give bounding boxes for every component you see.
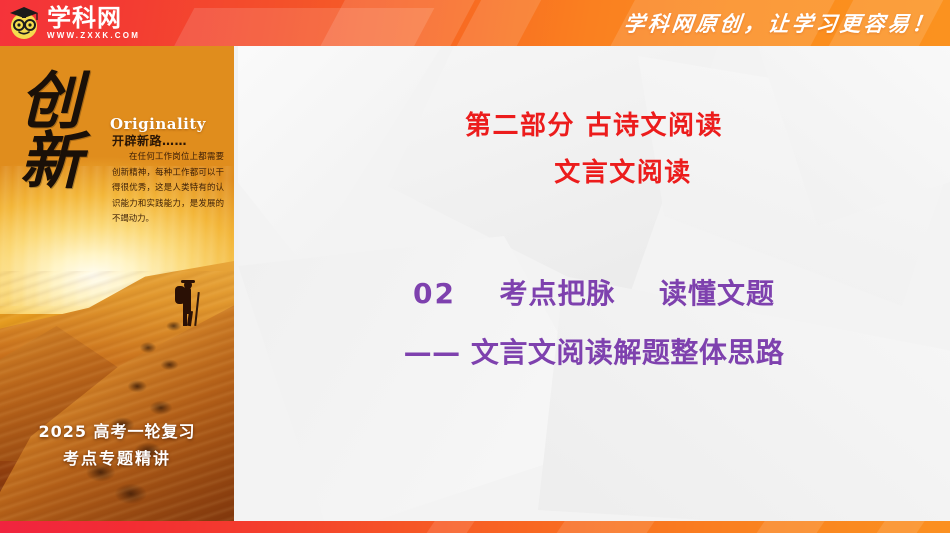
poster-footer: 2025 高考一轮复习 考点专题精讲 <box>0 418 234 469</box>
bottom-band-swoosh-decor <box>423 521 478 533</box>
bottom-band-swoosh-decor <box>753 521 828 533</box>
poster-body-text: 在任何工作岗位上都需要创新精神，每种工作都可以干得很优秀，这是人类特有的认识能力… <box>112 149 224 227</box>
poster-subtitle: 开辟新路…… <box>112 132 187 149</box>
poster-footer-line1: 2025 高考一轮复习 <box>0 418 234 442</box>
section-number: 02 <box>413 277 456 310</box>
top-brand-band: 学科网 WWW.ZXXK.COM 学科网原创，让学习更容易！ <box>0 0 950 46</box>
poster-english-title: Originality <box>110 115 206 133</box>
site-logo[interactable]: 学科网 WWW.ZXXK.COM <box>6 2 140 44</box>
polygon-bg-decor <box>538 276 950 521</box>
presentation-slide: 学科网 WWW.ZXXK.COM 学科网原创，让学习更容易！ 创新 Origin… <box>0 0 950 533</box>
bottom-band-swoosh-decor <box>873 521 928 533</box>
page-title-line1: 第二部分 古诗文阅读 <box>238 105 950 142</box>
bottom-band-swoosh-decor <box>553 521 658 533</box>
graduate-face-logo-icon <box>6 5 42 41</box>
section-subtitle: —— 文言文阅读解题整体思路 <box>238 331 950 371</box>
poster-calligraphy-text: 创新 <box>14 68 75 218</box>
left-poster-image: 创新 Originality 开辟新路…… 在任何工作岗位上都需要创新精神，每种… <box>0 46 234 521</box>
desert-hiker-silhouette-icon <box>174 278 200 326</box>
bottom-accent-band <box>0 521 950 533</box>
logo-name-text: 学科网 <box>47 6 140 30</box>
band-swoosh-decor <box>166 8 435 46</box>
slide-content-panel: 第二部分 古诗文阅读 文言文阅读 02 考点把脉 读懂文题 —— 文言文阅读解题… <box>238 46 950 521</box>
logo-url-text: WWW.ZXXK.COM <box>47 32 140 40</box>
page-title-line2: 文言文阅读 <box>238 152 950 189</box>
poster-footer-line2: 考点专题精讲 <box>0 445 234 469</box>
brand-slogan: 学科网原创，让学习更容易！ <box>622 0 939 46</box>
section-title-a: 考点把脉 <box>499 277 615 310</box>
section-title-b: 读懂文题 <box>659 277 775 310</box>
section-heading: 02 考点把脉 读懂文题 <box>238 272 950 312</box>
